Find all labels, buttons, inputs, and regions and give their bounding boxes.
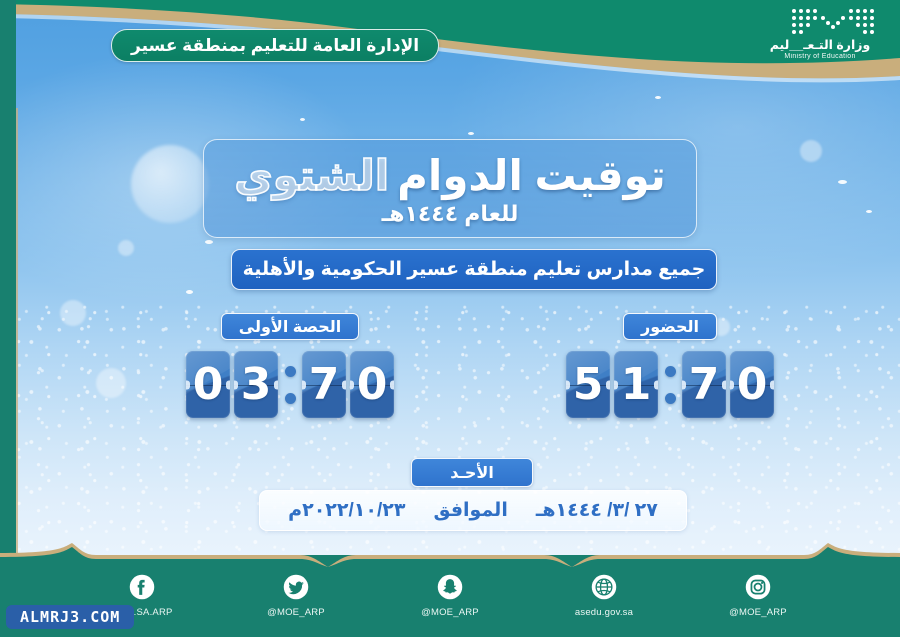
snow-fleck (838, 180, 847, 184)
social-handle: @MOE_ARP (729, 607, 787, 618)
social-instagram[interactable]: @MOE_ARP (709, 573, 807, 618)
ministry-name-english: Ministry of Education (760, 52, 880, 62)
moon-glow (131, 145, 209, 223)
title-year: للعام ١٤٤٤هـ (382, 201, 519, 227)
social-snapchat[interactable]: @MOE_ARP (401, 573, 499, 618)
admin-banner: الإدارة العامة للتعليم بمنطقة عسير (111, 29, 439, 62)
bokeh-dot (60, 300, 86, 326)
flip-card: 0 (350, 351, 394, 418)
title-card: توقيت الدوام الشتوي للعام ١٤٤٤هـ (203, 139, 697, 238)
flip-digit: 0 (737, 351, 768, 418)
left-edge-hairline (16, 108, 18, 578)
subtitle-banner: جميع مدارس تعليم منطقة عسير الحكومية وال… (231, 249, 717, 290)
snow-fleck (468, 132, 474, 135)
ministry-logo: وزارة التـعـ__ليم Ministry of Education (756, 6, 884, 72)
clock-label-first-class: الحصة الأولى (221, 313, 359, 340)
date-connector: الموافق (433, 499, 507, 522)
bokeh-dot (118, 240, 134, 256)
flip-digit: 7 (689, 351, 720, 418)
snapchat-icon (436, 573, 464, 601)
day-name-badge: الأحـد (411, 458, 533, 487)
flip-digit: 0 (357, 351, 388, 418)
ministry-name-arabic: وزارة التـعـ__ليم (760, 38, 880, 52)
social-handle: @MOE_ARP (267, 607, 325, 618)
clock-label-attendance: الحضور (623, 313, 717, 340)
date-hijri: ٢٧ /٣/ ١٤٤٤هـ (536, 499, 658, 522)
flip-digit: 5 (573, 351, 604, 418)
snow-fleck (205, 240, 213, 244)
left-edge-band (0, 0, 16, 637)
footer-wave-graphic (0, 543, 900, 567)
flip-card: 7 (302, 351, 346, 418)
flip-card: 0 (186, 351, 230, 418)
flip-digit: 7 (309, 351, 340, 418)
snow-fleck (186, 290, 193, 294)
instagram-icon (744, 573, 772, 601)
social-twitter[interactable]: @MOE_ARP (247, 573, 345, 618)
flip-digit: 3 (241, 351, 272, 418)
title-main: توقيت الدوام الشتوي (234, 151, 665, 200)
flip-card: 0 (730, 351, 774, 418)
clock-colon (282, 351, 298, 418)
flip-card: 3 (234, 351, 278, 418)
globe-icon (590, 573, 618, 601)
flip-card: 5 (566, 351, 610, 418)
moe-dots-logo-icon (790, 6, 876, 36)
flip-digit: 1 (621, 351, 652, 418)
date-bar: ٢٧ /٣/ ١٤٤٤هـ الموافق ٢٠٢٢/١٠/٢٣م (259, 490, 687, 531)
flip-card: 1 (614, 351, 658, 418)
flip-card: 7 (682, 351, 726, 418)
social-handle: asedu.gov.sa (575, 607, 633, 618)
bokeh-dot (96, 368, 126, 398)
title-highlight: الشتوي (234, 151, 389, 200)
social-links: MOE.SA.ARP @MOE_ARP @MOE_ARP (0, 573, 900, 635)
bokeh-dot (800, 140, 822, 162)
flip-digit: 0 (193, 351, 224, 418)
twitter-icon (282, 573, 310, 601)
snow-fleck (866, 210, 872, 213)
footer: MOE.SA.ARP @MOE_ARP @MOE_ARP (0, 555, 900, 637)
date-gregorian: ٢٠٢٢/١٠/٢٣م (288, 499, 405, 522)
clock-attendance: الحضور 0 7 1 5 (540, 313, 800, 418)
poster: وزارة التـعـ__ليم Ministry of Education … (0, 0, 900, 637)
watermark: ALMRJ3.COM (6, 605, 134, 629)
facebook-icon (128, 573, 156, 601)
clock-colon (662, 351, 678, 418)
clock-first-class: الحصة الأولى 0 7 3 0 (160, 313, 420, 418)
flip-row-first-class: 0 7 3 0 (160, 351, 420, 418)
flip-row-attendance: 0 7 1 5 (540, 351, 800, 418)
title-prefix: توقيت الدوام (397, 151, 666, 200)
social-handle: @MOE_ARP (421, 607, 479, 618)
social-website[interactable]: asedu.gov.sa (555, 573, 653, 618)
